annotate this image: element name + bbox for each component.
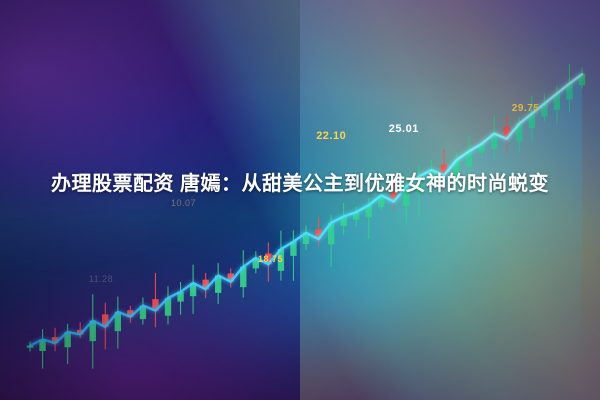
promo-image: 22.10 25.01 29.75 18.75 10.07 11.28 办理股票… bbox=[0, 0, 600, 400]
price-area-fill bbox=[30, 74, 582, 372]
price-label-1128: 11.28 bbox=[89, 274, 113, 284]
headline-text: 办理股票配资 唐嫣：从甜美公主到优雅女神的时尚蜕变 bbox=[18, 166, 582, 202]
price-label-2501: 25.01 bbox=[389, 123, 419, 135]
price-label-2210: 22.10 bbox=[316, 130, 346, 142]
price-label-1875: 18.75 bbox=[258, 254, 283, 264]
price-label-2975: 29.75 bbox=[512, 103, 540, 114]
